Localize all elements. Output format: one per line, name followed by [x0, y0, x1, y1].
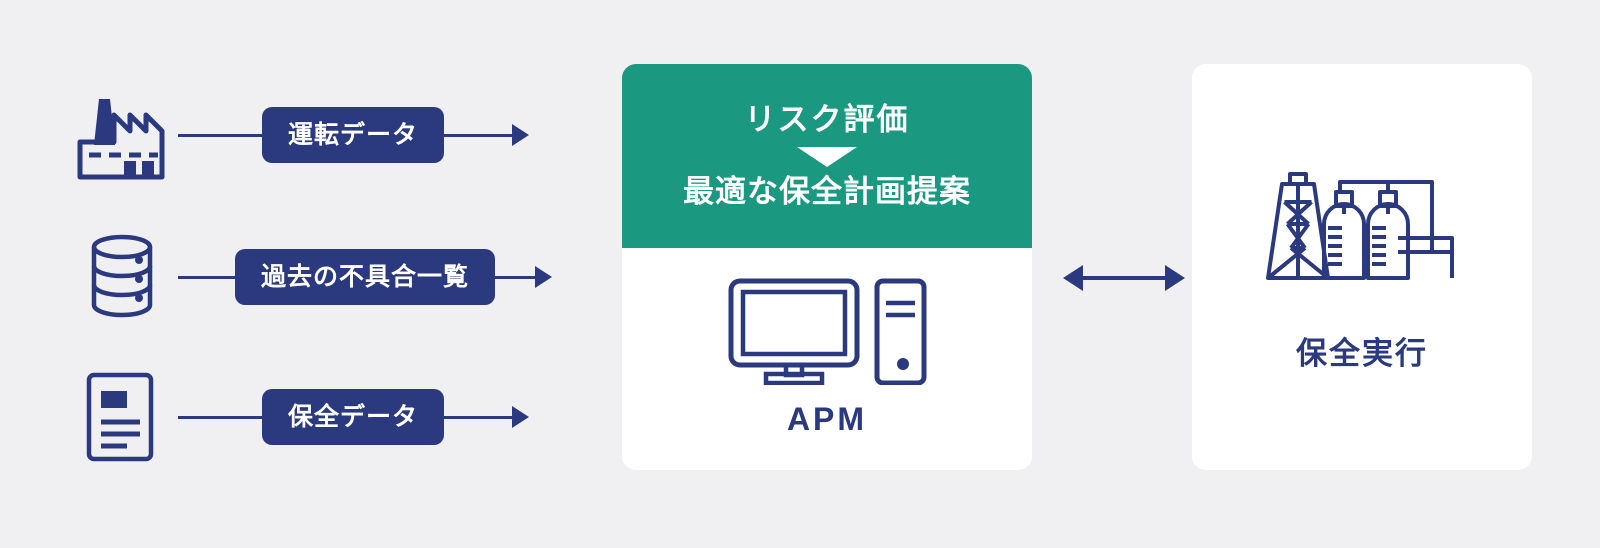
triangle-down-icon	[797, 147, 857, 167]
flow-past-defects: 過去の不具合一覧	[178, 247, 600, 307]
document-icon	[72, 367, 172, 467]
optimal-plan-label: 最適な保全計画提案	[683, 175, 971, 209]
maintenance-execution-label: 保全実行	[1296, 338, 1428, 369]
badge-past-defects[interactable]: 過去の不具合一覧	[235, 249, 495, 305]
desktop-computer-icon	[725, 275, 930, 385]
factory-icon	[72, 85, 172, 185]
arrow-right-icon	[512, 124, 529, 146]
apm-label: APM	[787, 403, 867, 435]
apm-card[interactable]: リスク評価 最適な保全計画提案	[622, 64, 1032, 470]
database-icon	[72, 227, 172, 327]
arrow-right-head	[1165, 265, 1185, 291]
arrow-shaft	[1083, 276, 1165, 280]
bidirectional-arrow-icon	[1063, 258, 1185, 298]
connector-line-left	[178, 416, 262, 419]
arrow-left-head	[1063, 265, 1083, 291]
connector-line-right	[444, 416, 512, 419]
diagram-canvas: 運転データ 過去の不具合一覧	[0, 0, 1600, 548]
source-row-past-defects: 過去の不具合一覧	[0, 222, 600, 332]
apm-card-body: APM	[622, 248, 1032, 470]
refinery-plant-icon	[1262, 166, 1462, 286]
badge-maintenance-data[interactable]: 保全データ	[262, 389, 444, 445]
arrow-right-icon	[512, 406, 529, 428]
source-row-operation-data: 運転データ	[0, 80, 600, 190]
maintenance-execution-card[interactable]: 保全実行	[1192, 64, 1532, 470]
arrow-right-icon	[535, 266, 552, 288]
flow-maintenance-data: 保全データ	[178, 387, 600, 447]
connector-line-right	[495, 276, 535, 279]
flow-operation-data: 運転データ	[178, 105, 600, 165]
apm-card-header: リスク評価 最適な保全計画提案	[622, 64, 1032, 248]
risk-assessment-label: リスク評価	[745, 103, 910, 137]
connector-line-left	[178, 276, 235, 279]
connector-line-right	[444, 134, 512, 137]
badge-operation-data[interactable]: 運転データ	[262, 107, 444, 163]
source-row-maintenance-data: 保全データ	[0, 362, 600, 472]
connector-line-left	[178, 134, 262, 137]
